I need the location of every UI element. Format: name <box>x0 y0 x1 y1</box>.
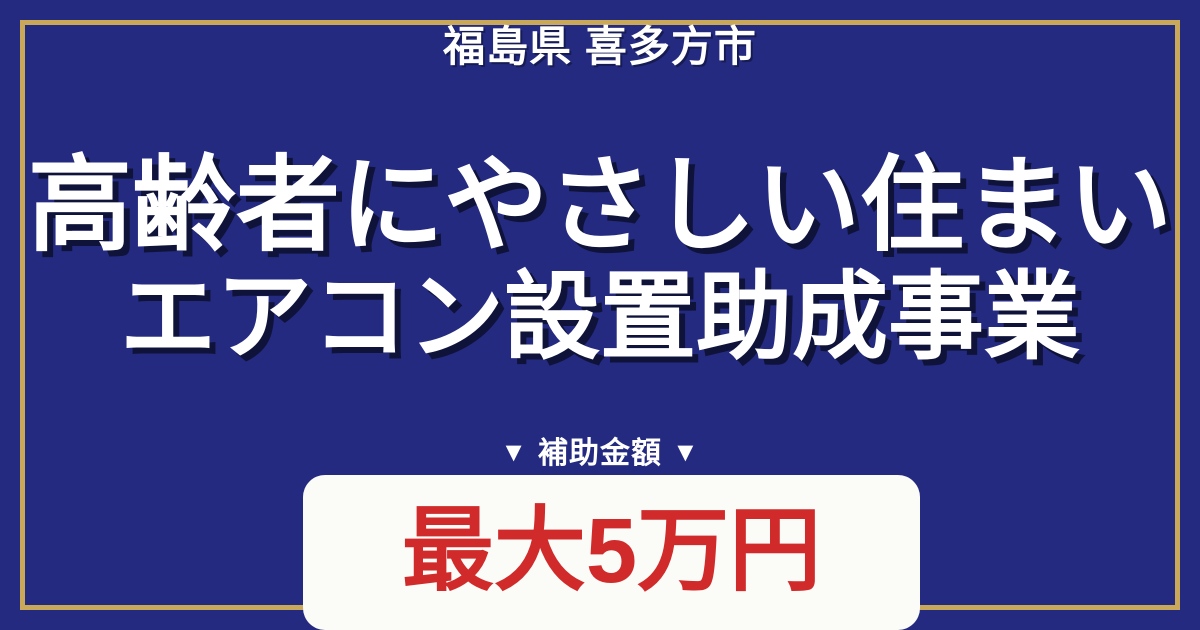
headline-line-1: 高齢者にやさしい住まい <box>0 150 1200 262</box>
subsidy-amount-card: 最大5万円 <box>303 475 920 630</box>
triangle-down-icon-right: ▼ <box>672 439 700 466</box>
subsidy-label-text: 補助金額 <box>538 437 662 470</box>
headline-block: 高齢者にやさしい住まい エアコン設置助成事業 <box>0 150 1200 370</box>
municipality-label: 福島県 喜多方市 <box>0 22 1200 72</box>
subsidy-announcement-banner: 福島県 喜多方市 高齢者にやさしい住まい エアコン設置助成事業 ▼補助金額▼ 最… <box>0 0 1200 630</box>
headline-line-2: エアコン設置助成事業 <box>0 266 1200 370</box>
subsidy-amount-value: 最大5万円 <box>402 505 821 597</box>
subsidy-amount-label: ▼補助金額▼ <box>0 428 1200 472</box>
triangle-down-icon-left: ▼ <box>500 439 528 466</box>
